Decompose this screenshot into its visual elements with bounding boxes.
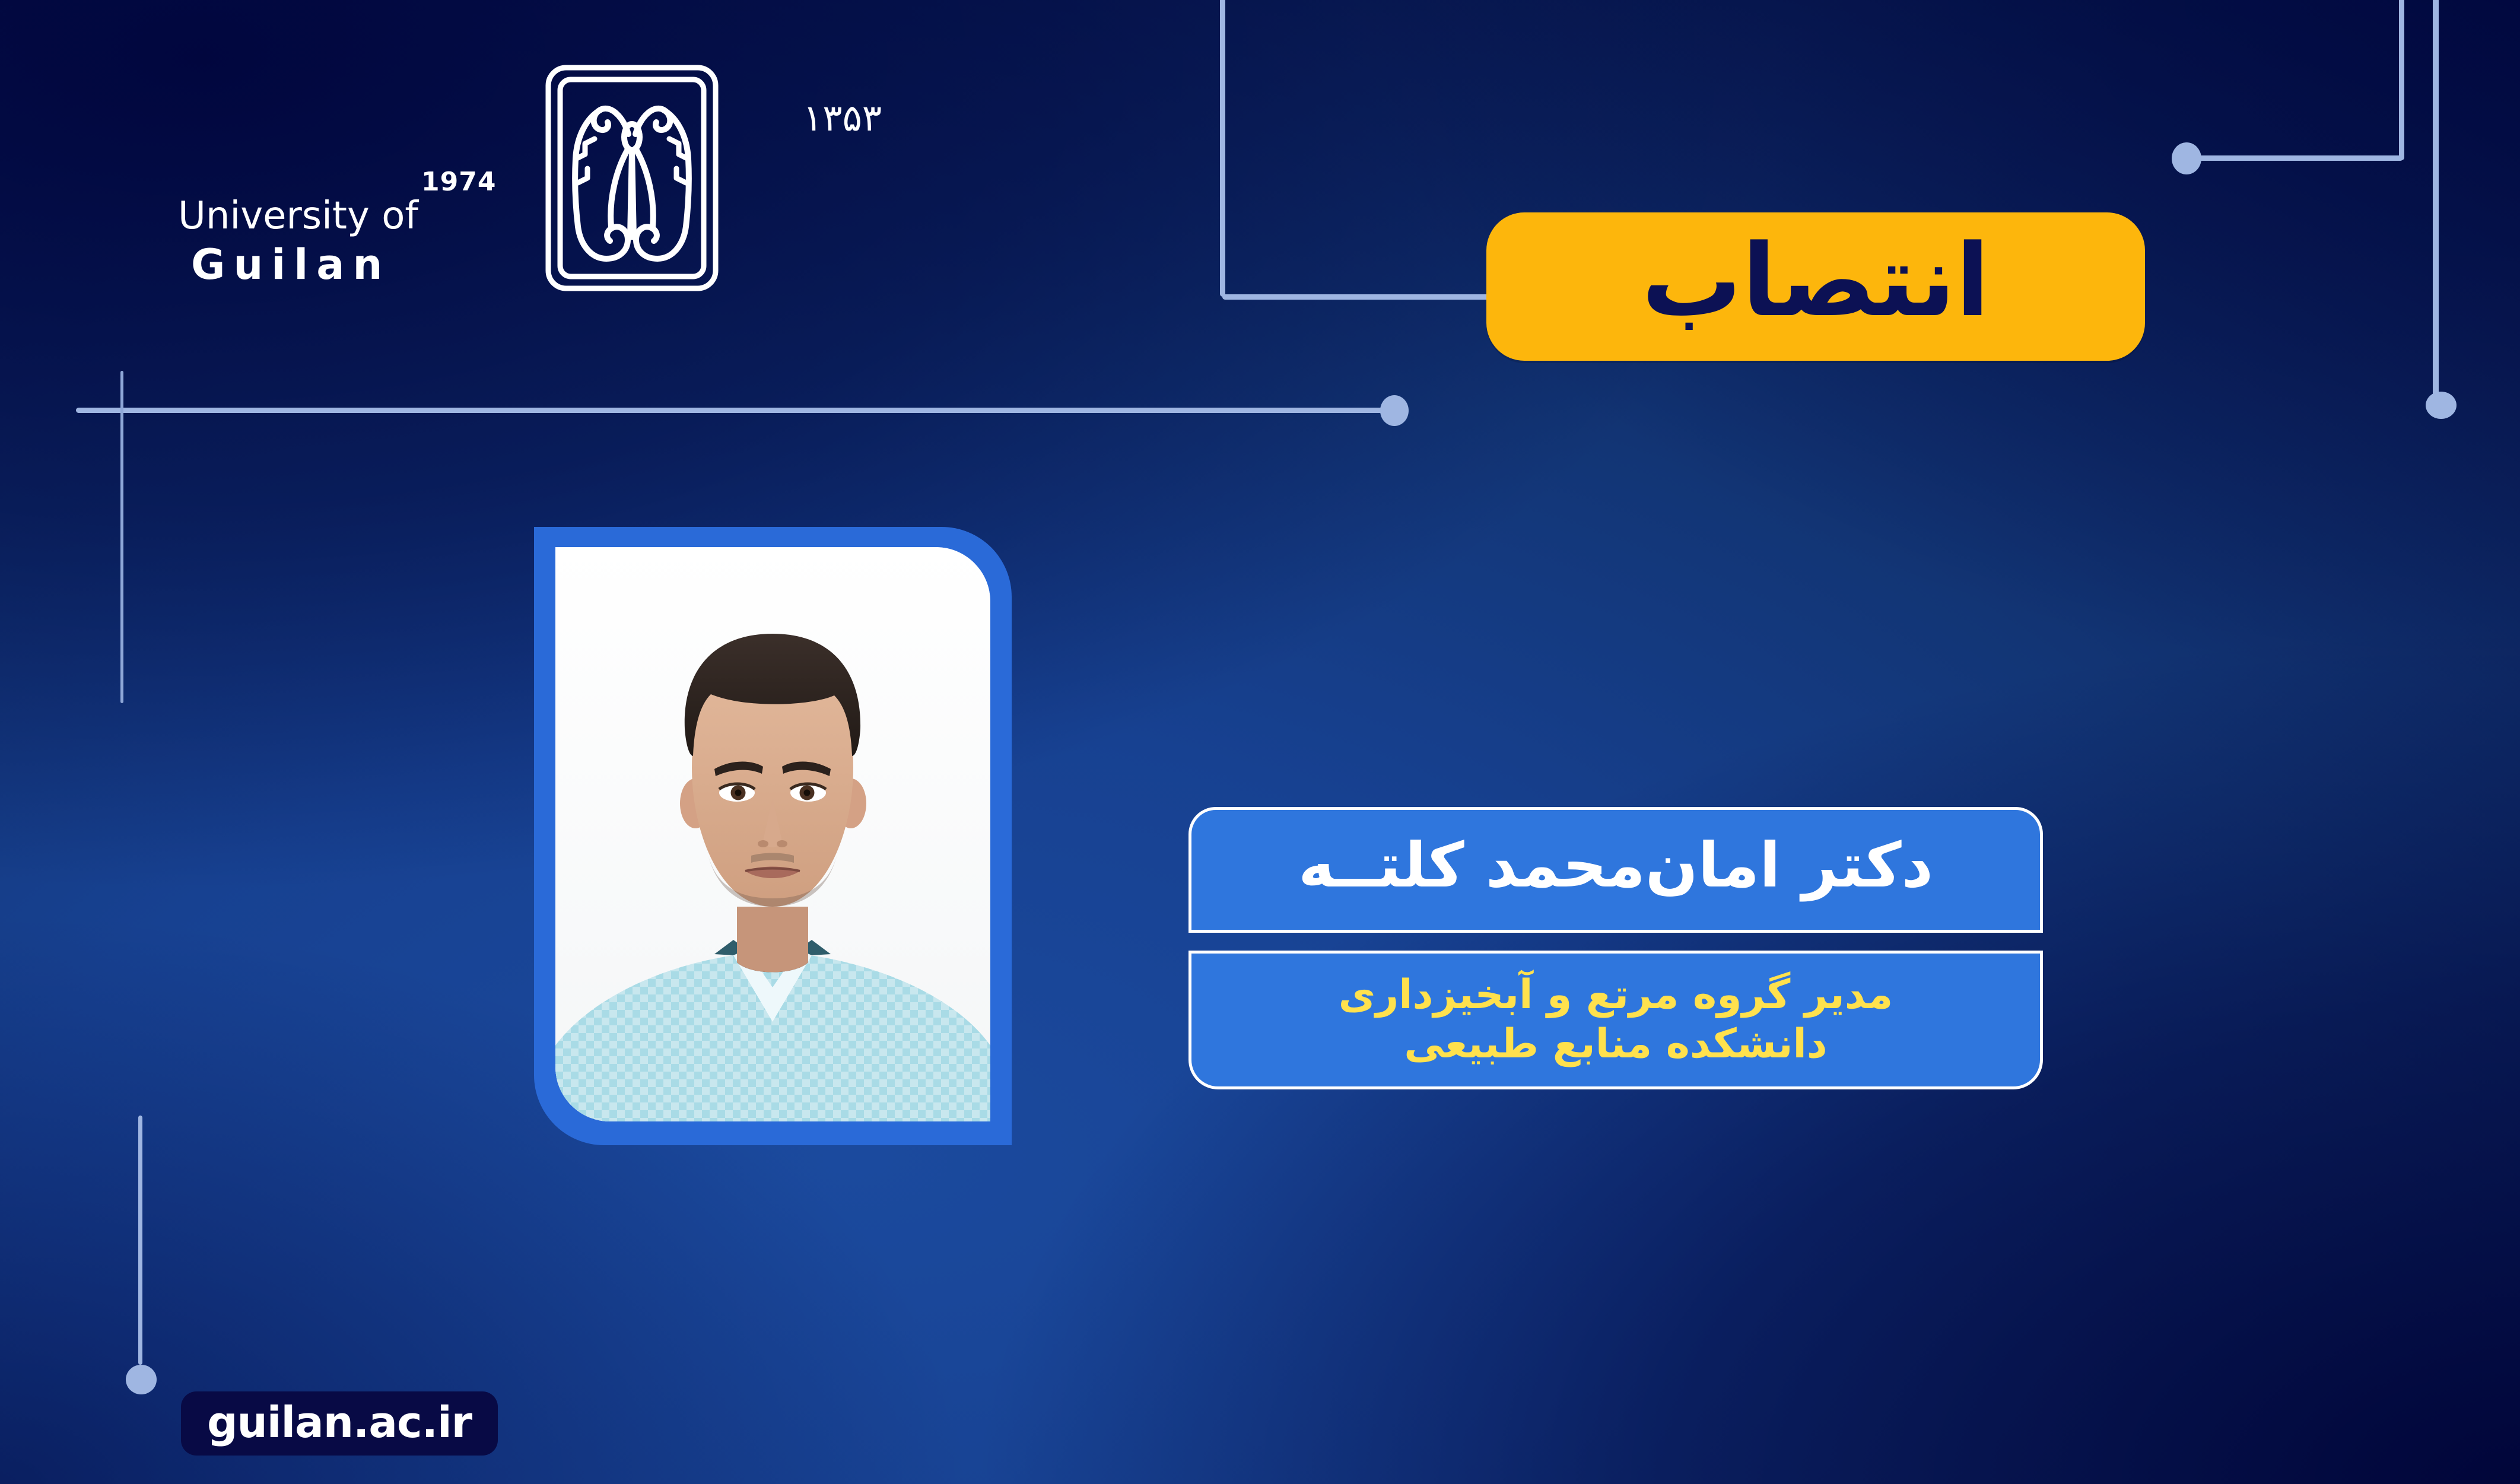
appointment-badge: انتصاب xyxy=(1486,212,2145,361)
decor-line-top-right-vertical xyxy=(2399,0,2404,160)
portrait-frame xyxy=(534,527,1012,1145)
logo-english-text: 1974 University of Guilan xyxy=(178,169,510,289)
person-name: دکتر امان‌محمد کلتــه xyxy=(1298,834,1933,896)
decor-dot-bottom-left xyxy=(126,1365,157,1394)
person-title-line-1: مدیر گروه مرتع و آبخیزداری xyxy=(1339,971,1893,1020)
decor-line-bottom-left-vertical xyxy=(138,1116,142,1365)
decor-dot-far-right xyxy=(2426,392,2457,419)
svg-text:۱۳۵۳: ۱۳۵۳ xyxy=(803,96,882,139)
decor-line-far-right-vertical xyxy=(2433,0,2439,398)
decor-dot-top-right xyxy=(2172,142,2201,174)
logo-line-guilan: Guilan xyxy=(191,241,510,289)
university-logo: 1974 University of Guilan xyxy=(178,136,1246,374)
website-url-badge[interactable]: guilan.ac.ir xyxy=(181,1391,498,1456)
portrait-photo xyxy=(555,547,990,1121)
decor-dot-top-left xyxy=(1380,395,1409,426)
decor-line-top-left-vertical xyxy=(120,371,123,703)
logo-line-university: University of xyxy=(178,196,510,236)
person-title-line-2: دانشکده منابع طبیعی xyxy=(1404,1020,1827,1069)
decor-line-top-left-horizontal xyxy=(76,408,1396,413)
person-name-card: دکتر امان‌محمد کلتــه xyxy=(1189,807,2043,933)
person-title-card: مدیر گروه مرتع و آبخیزداری دانشکده منابع… xyxy=(1189,951,2043,1089)
website-url-text: guilan.ac.ir xyxy=(207,1401,472,1444)
guilan-butterfly-emblem-icon xyxy=(540,59,724,297)
appointment-badge-label: انتصاب xyxy=(1642,231,1990,331)
decor-line-top-right-horizontal xyxy=(2189,155,2403,161)
logo-year-en: 1974 xyxy=(421,169,510,195)
logo-persian-text: دانشگاه گیلان ۱۳۵۳ xyxy=(715,61,1166,256)
svg-text:دانشگاه گیلان: دانشگاه گیلان xyxy=(1161,112,1166,215)
poster-canvas: 1974 University of Guilan xyxy=(0,0,2520,1484)
